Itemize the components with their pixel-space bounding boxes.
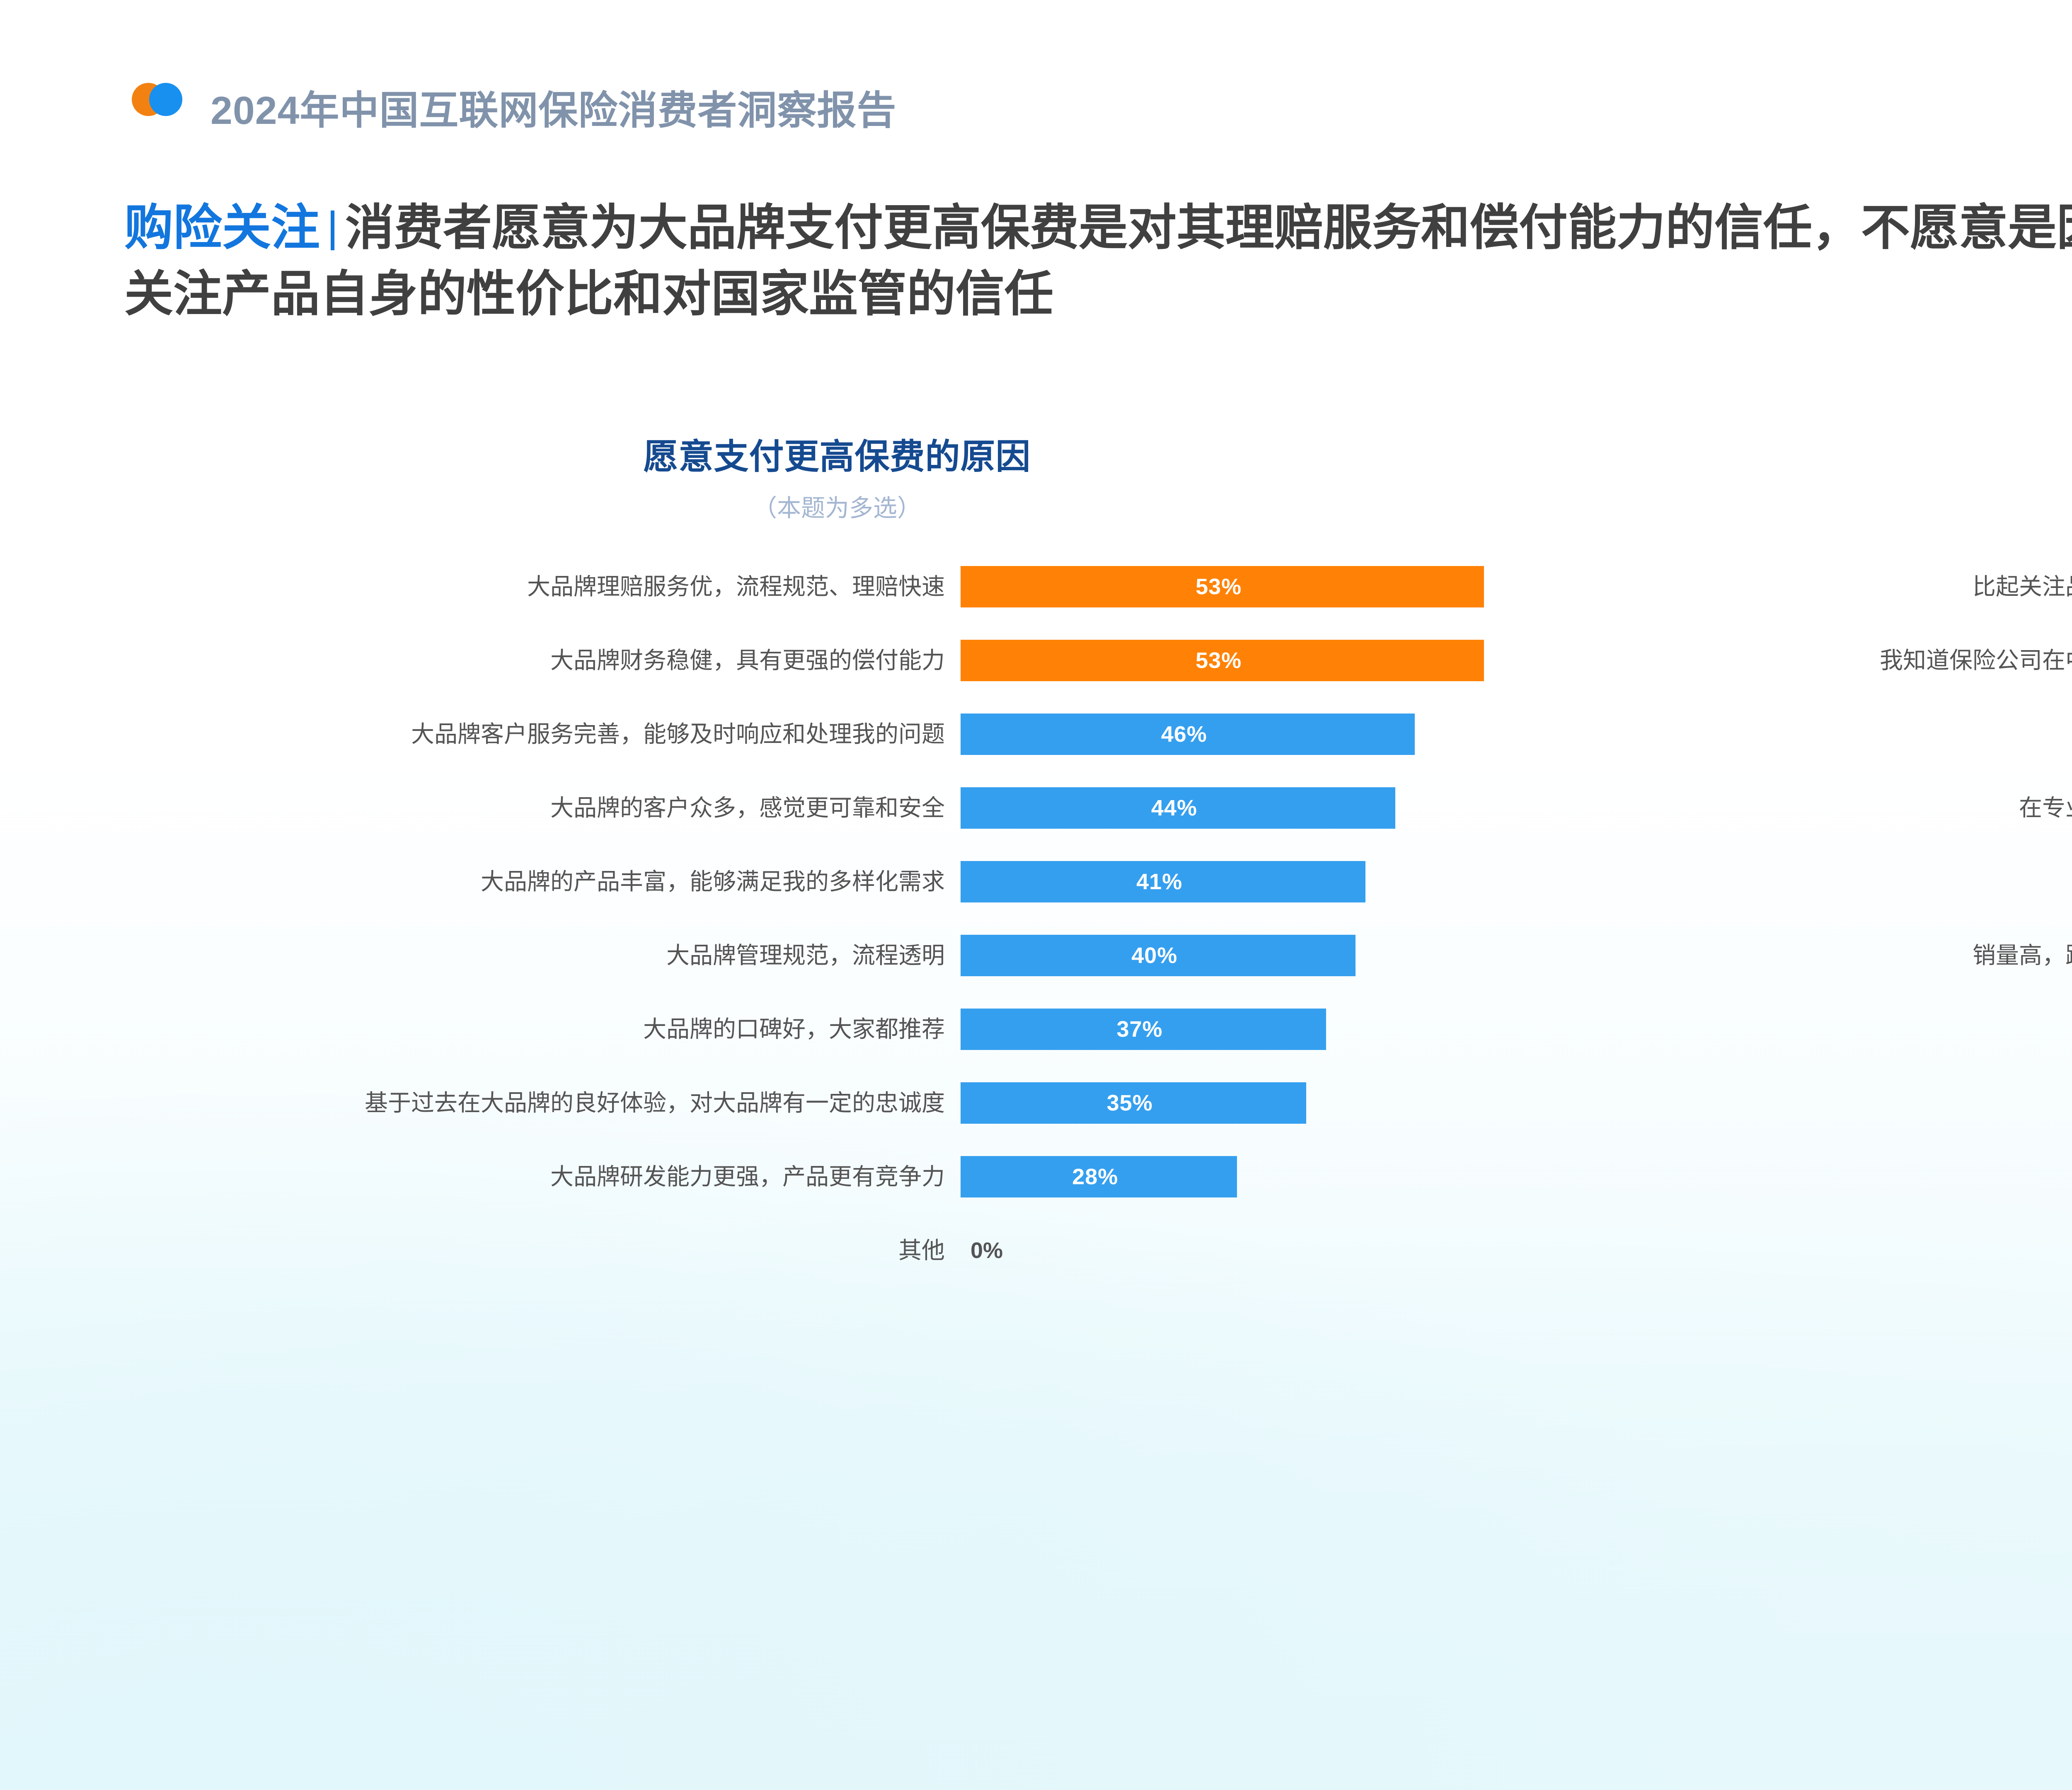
bar-row-label: 大品牌客户服务完善，能够及时响应和处理我的问题 — [108, 723, 961, 746]
bar-row-label: 保险遇到问题可以通过维权解决 — [1600, 870, 2072, 893]
bar-row-label: 基于过去在大品牌的良好体验，对大品牌有一定的忠诚度 — [108, 1091, 961, 1115]
bar-fill: 46% — [961, 714, 1415, 755]
bar-row: 比起关注品牌及服务，更关注产品自身性价比48% — [1600, 566, 2072, 607]
bar-value-label: 46% — [1161, 721, 1207, 747]
bar-value-label: 37% — [1116, 1016, 1162, 1042]
bar-track: 53% — [961, 640, 1566, 681]
bar-fill: 53% — [961, 566, 1484, 607]
bar-row-label: 大品牌财务稳健，具有更强的偿付能力 — [108, 649, 961, 672]
bar-fill: 40% — [961, 935, 1356, 976]
page-title-text-1: 消费者愿意为大品牌支付更高保费是对其理赔服务和偿付能力的信任，不愿意是因为更 — [345, 201, 2072, 255]
bar-track: 37% — [961, 1009, 1566, 1050]
bar-rows-willing: 大品牌理赔服务优，流程规范、理赔快速53%大品牌财务稳健，具有更强的偿付能力53… — [108, 566, 1566, 1271]
bar-value-label: 0% — [971, 1238, 1003, 1263]
bar-value-label: 40% — [1131, 943, 1177, 968]
page-title-line-2: 关注产品自身的性价比和对国家监管的信任 — [124, 261, 2072, 327]
bar-row-label: 大品牌的客户众多，感觉更可靠和安全 — [108, 796, 961, 820]
bar-value-label: 44% — [1151, 795, 1197, 821]
bar-row: 大品牌的产品丰富，能够满足我的多样化需求41% — [108, 861, 1566, 902]
chart-subtitle-willing: （本题为多选） — [108, 496, 1566, 520]
slide-header: 2024年中国互联网保险消费者洞察报告 清华大学五道口金融学院 中国保险与养老金… — [0, 0, 2072, 178]
chart-subtitle-unwilling: （本题为多选） — [1600, 496, 2072, 520]
bar-track: 28% — [961, 1156, 1566, 1197]
bar-row: 保障写进合同，保司基本不会违约33% — [1600, 714, 2072, 755]
title-divider-bar — [331, 210, 334, 250]
bar-row: 其他1%1% — [1600, 1156, 2072, 1197]
bar-row-label: 在专业金融平台购买保险等于有双重保障 — [1600, 796, 2072, 820]
bar-row: 在专业金融平台购买保险等于有双重保障30% — [1600, 787, 2072, 829]
bar-row-label: 比起关注品牌及服务，更关注产品自身性价比 — [1600, 575, 2072, 598]
bar-row-label: 靠谱代理人或知名博主推荐 — [1600, 1091, 2072, 1115]
page-title-line-1: 购险关注消费者愿意为大品牌支付更高保费是对其理赔服务和偿付能力的信任，不愿意是因… — [124, 195, 2072, 261]
page-title-label: 购险关注 — [124, 201, 320, 255]
bar-track: 44% — [961, 787, 1566, 829]
bar-rows-unwilling: 比起关注品牌及服务，更关注产品自身性价比48%我知道保险公司在中国受到严格的监管… — [1600, 566, 2072, 1197]
bar-row-label: 大品牌研发能力更强，产品更有竞争力 — [108, 1165, 961, 1188]
bar-row-label: 大品牌的产品丰富，能够满足我的多样化需求 — [108, 870, 961, 893]
bar-row: 大品牌理赔服务优，流程规范、理赔快速53% — [108, 566, 1566, 607]
bar-row-label: 我知道保险公司在中国受到严格的监管，不会轻易倒闭 — [1600, 649, 2072, 672]
bar-value-label: 41% — [1136, 869, 1182, 895]
bar-value-label: 35% — [1107, 1090, 1153, 1116]
bar-row-label: 其他 — [108, 1239, 961, 1262]
bar-fill: 37% — [961, 1009, 1326, 1050]
bar-row-label: 大品牌理赔服务优，流程规范、理赔快速 — [108, 575, 961, 598]
bar-fill: 44% — [961, 787, 1395, 829]
bar-row: 大品牌财务稳健，具有更强的偿付能力53% — [108, 640, 1566, 681]
chart-panel-willing: 愿意支付更高保费的原因 （本题为多选） 大品牌理赔服务优，流程规范、理赔快速53… — [108, 439, 1566, 1304]
page-title: 购险关注消费者愿意为大品牌支付更高保费是对其理赔服务和偿付能力的信任，不愿意是因… — [124, 195, 2072, 328]
bar-row-label: 销量高，跟着买就可以，我相信其他人的选择 — [1600, 944, 2072, 967]
report-title: 2024年中国互联网保险消费者洞察报告 — [211, 79, 896, 135]
brand-dots-logo — [132, 83, 206, 116]
bar-row: 我知道保险公司在中国受到严格的监管，不会轻易倒闭39% — [1600, 640, 2072, 681]
blue-dot-icon — [149, 83, 182, 116]
bar-value-label: 53% — [1196, 574, 1242, 600]
bar-track: 35% — [961, 1082, 1566, 1124]
bar-track: 0% — [961, 1230, 1566, 1271]
bar-row-label: 广告曝光多，说明公司有一定实力 — [1600, 1018, 2072, 1041]
bar-row: 广告曝光多，说明公司有一定实力13% — [1600, 1009, 2072, 1050]
bar-row: 大品牌客户服务完善，能够及时响应和处理我的问题46% — [108, 714, 1566, 755]
bar-row-label: 其他 — [1600, 1165, 2072, 1188]
chart-title-willing: 愿意支付更高保费的原因 — [108, 439, 1566, 474]
bar-row: 大品牌管理规范，流程透明40% — [108, 935, 1566, 976]
bar-row: 销量高，跟着买就可以，我相信其他人的选择14% — [1600, 935, 2072, 976]
bar-fill: 35% — [961, 1082, 1306, 1124]
bar-row: 靠谱代理人或知名博主推荐11% — [1600, 1082, 2072, 1124]
bar-row-label: 大品牌管理规范，流程透明 — [108, 944, 961, 967]
bar-fill: 28% — [961, 1156, 1237, 1197]
bar-track: 46% — [961, 714, 1566, 755]
chart-title-unwilling: 不愿意支付更高保费的原因 — [1600, 439, 2072, 474]
bar-row: 大品牌研发能力更强，产品更有竞争力28% — [108, 1156, 1566, 1197]
bar-row-label: 大品牌的口碑好，大家都推荐 — [108, 1018, 961, 1041]
bar-track: 40% — [961, 935, 1566, 976]
bar-row: 基于过去在大品牌的良好体验，对大品牌有一定的忠诚度35% — [108, 1082, 1566, 1124]
bar-track: 53% — [961, 566, 1566, 607]
bar-value-label: 53% — [1196, 648, 1242, 673]
bar-row: 其他0% — [108, 1230, 1566, 1271]
bar-row-label: 保障写进合同，保司基本不会违约 — [1600, 723, 2072, 746]
chart-panel-unwilling: 不愿意支付更高保费的原因 （本题为多选） 比起关注品牌及服务，更关注产品自身性价… — [1600, 439, 2072, 1230]
bar-fill: 53% — [961, 640, 1484, 681]
bar-track: 41% — [961, 861, 1566, 902]
bar-row: 保险遇到问题可以通过维权解决27% — [1600, 861, 2072, 902]
charts-area: 愿意支付更高保费的原因 （本题为多选） 大品牌理赔服务优，流程规范、理赔快速53… — [0, 439, 2072, 1724]
slide-canvas: 2024年中国互联网保险消费者洞察报告 清华大学五道口金融学院 中国保险与养老金… — [0, 0, 2072, 1790]
bar-row: 大品牌的客户众多，感觉更可靠和安全44% — [108, 787, 1566, 829]
bar-row: 大品牌的口碑好，大家都推荐37% — [108, 1009, 1566, 1050]
bar-fill: 41% — [961, 861, 1365, 902]
bar-value-label: 28% — [1072, 1164, 1118, 1190]
